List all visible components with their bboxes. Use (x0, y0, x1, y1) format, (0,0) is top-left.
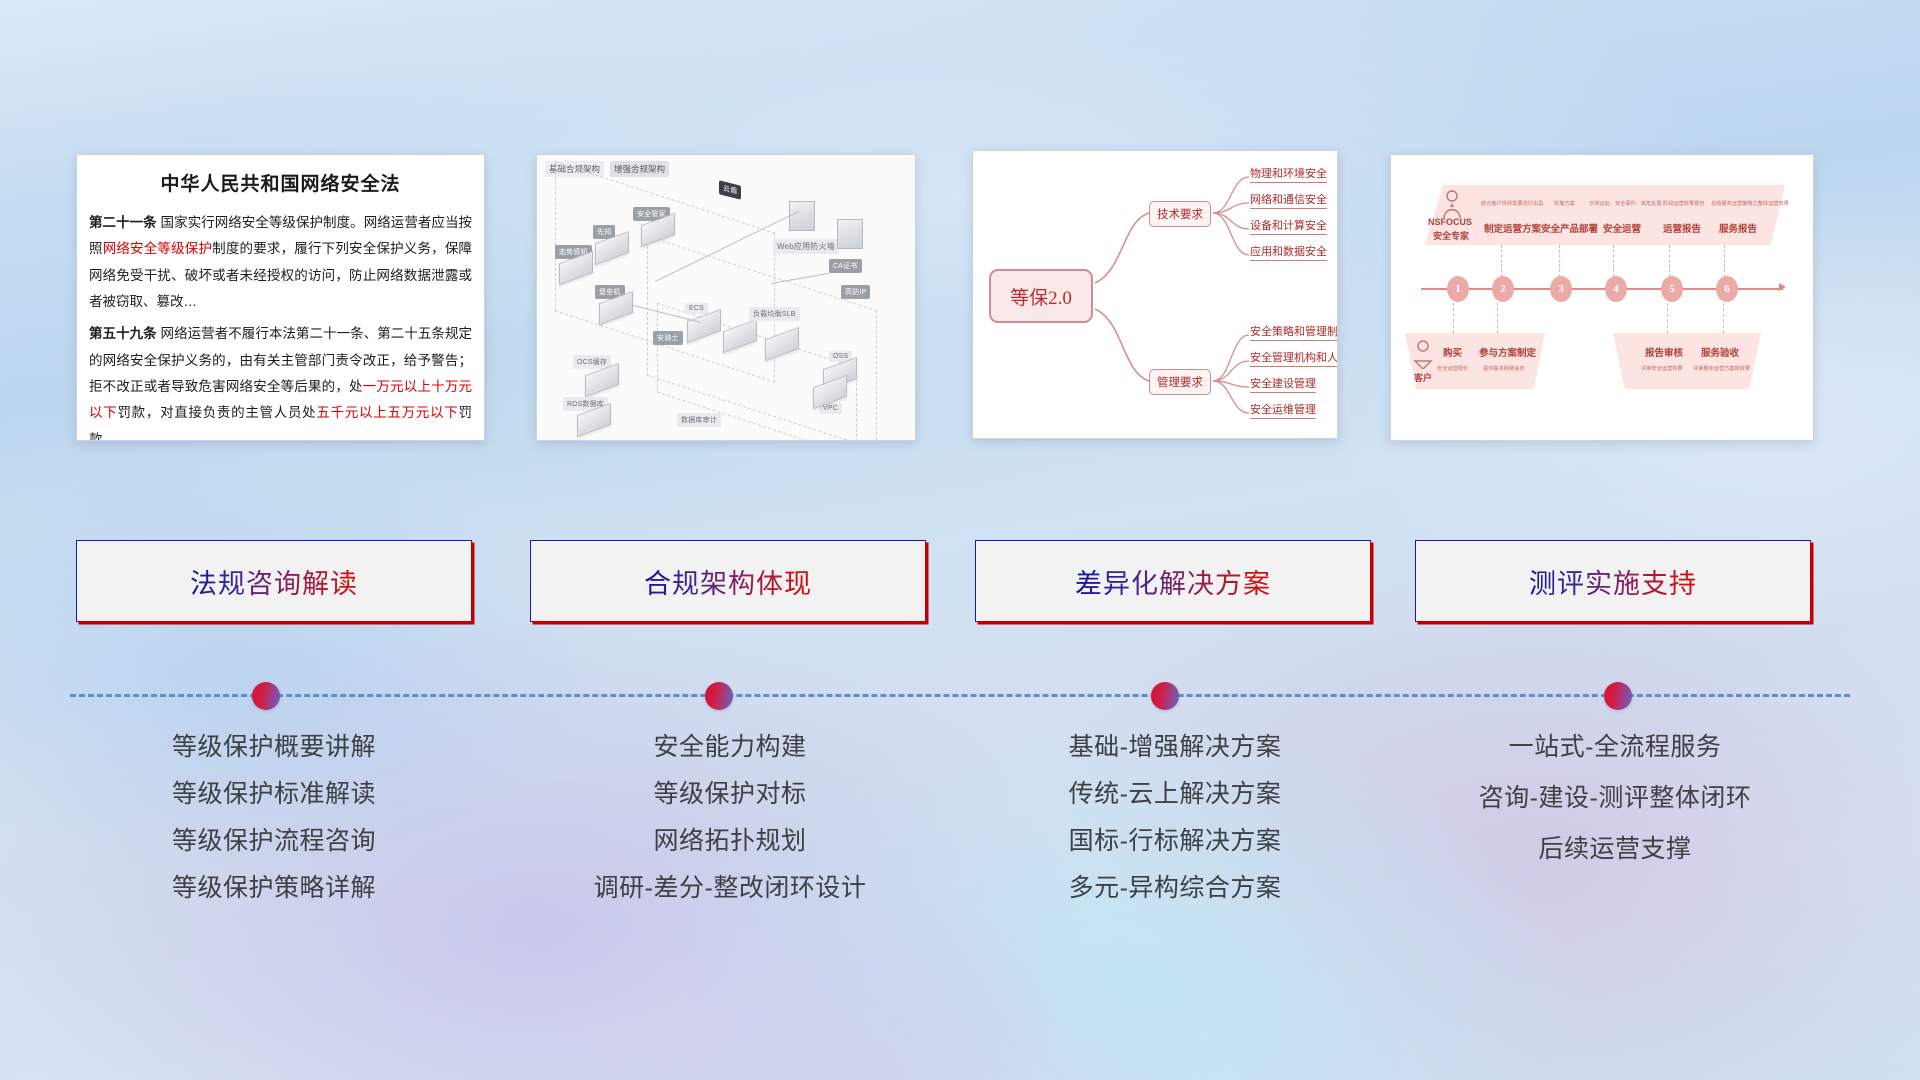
banner-row: 法规咨询解读 合规架构体现 差异化解决方案 测评实施支持 (0, 540, 1920, 650)
detail-column-regulation: 等级保护概要讲解 等级保护标准解读 等级保护流程咨询 等级保护策略详解 (64, 735, 484, 923)
mindmap-leaf-policy-system: 安全策略和管理制度 (1250, 323, 1338, 341)
timeline-link-top-4 (1613, 245, 1614, 277)
list-item: 传统-云上解决方案 (965, 782, 1385, 807)
law-body: 第二十一条 国家实行网络安全等级保护制度。网络运营者应当按照网络安全等级保护制度… (77, 210, 484, 441)
law-text-highlight: 五千元以上五万元以下 (316, 405, 458, 420)
thumbnail-row: 中华人民共和国网络安全法 第二十一条 国家实行网络安全等级保护制度。网络运营者应… (0, 0, 1920, 450)
thumbnail-service-timeline[interactable]: NSFOCUS 安全专家 结合客户现状需要进行出具 制定运营方案 实施方案 安全… (1390, 154, 1814, 441)
banner-label: 测评实施支持 (1529, 562, 1697, 601)
mindmap-leaf-org-personnel: 安全管理机构和人员 (1250, 349, 1338, 367)
top-step-1-subtitle: 结合客户现状需要进行出具 (1481, 200, 1543, 207)
timeline-marker-2[interactable] (705, 682, 733, 710)
node-chip-anqishi: 安骑士 (653, 331, 683, 345)
node-cube-waf (789, 201, 815, 231)
timeline-link-top-3 (1559, 245, 1560, 277)
detail-column-architecture: 安全能力构建 等级保护对标 网络拓扑规划 调研-差分-整改闭环设计 (520, 735, 940, 923)
timeline-marker-1[interactable] (252, 682, 280, 710)
node-chip-ca-cert: CA证书 (829, 259, 862, 273)
node-cube-ca (837, 219, 863, 249)
timeline-node-5[interactable]: 5 (1661, 276, 1683, 302)
node-chip-slb: 负载均衡SLB (749, 307, 800, 321)
mindmap-leaf-ops-mgmt: 安全运维管理 (1250, 401, 1316, 419)
list-item: 等级保护流程咨询 (64, 829, 484, 854)
list-item: 后续运营支撑 (1405, 837, 1825, 862)
timeline-link-bot-4 (1723, 303, 1724, 333)
timeline-node-4[interactable]: 4 (1605, 276, 1627, 302)
timeline-marker-4[interactable] (1604, 682, 1632, 710)
list-item: 安全能力构建 (520, 735, 940, 760)
timeline-vendor-banner (1425, 185, 1785, 245)
mindmap-root: 等保2.0 (989, 269, 1093, 323)
list-item: 多元-异构综合方案 (965, 876, 1385, 901)
node-chip-web-waf: Web应用防火墙 (773, 239, 839, 254)
law-paragraph-21: 第二十一条 国家实行网络安全等级保护制度。网络运营者应当按照网络安全等级保护制度… (89, 210, 472, 315)
list-item: 网络拓扑规划 (520, 829, 940, 854)
timeline-link-top-2 (1501, 245, 1502, 277)
timeline-customer-banner-right (1613, 333, 1761, 389)
banner-regulation-consulting[interactable]: 法规咨询解读 (76, 540, 472, 622)
bottom-step-4-title: 服务验收 (1701, 345, 1739, 359)
mindmap-branch-management: 管理要求 (1149, 369, 1211, 395)
timeline-node-1[interactable]: 1 (1447, 276, 1469, 302)
bottom-step-4-subtitle: 评审整体运营方案和效果 (1693, 365, 1750, 372)
top-step-5-subtitle: 总结服务运营策略之整体运营效果 (1711, 200, 1789, 207)
timeline-node-3[interactable]: 3 (1550, 276, 1572, 302)
list-item: 等级保护概要讲解 (64, 735, 484, 760)
service-timeline: NSFOCUS 安全专家 结合客户现状需要进行出具 制定运营方案 实施方案 安全… (1391, 155, 1813, 440)
bottom-step-1-subtitle: 安全运营报价 (1437, 365, 1468, 372)
bottom-step-3-title: 报告审核 (1645, 345, 1683, 359)
top-step-4-title: 运营报告 (1663, 221, 1701, 235)
timeline-marker-3[interactable] (1151, 682, 1179, 710)
architecture-diagram: 基础合规架构 增强合规架构 云盾 安全管家 先知 态势感知 堡垒机 ECS 安骑… (537, 155, 915, 440)
top-step-1-title: 制定运营方案 (1484, 221, 1541, 235)
timeline-strip (0, 660, 1920, 720)
top-step-3-subtitle: 日常运处、安全事件、高危处置 (1589, 200, 1662, 207)
node-chip-ecs: ECS (685, 303, 708, 314)
mindmap-leaf-app-data: 应用和数据安全 (1250, 243, 1327, 261)
list-item: 一站式-全流程服务 (1405, 735, 1825, 760)
tab-enhanced-compliance[interactable]: 增强合规架构 (610, 161, 669, 177)
list-item: 调研-差分-整改闭环设计 (520, 876, 940, 901)
vendor-role-line2: 安全专家 (1433, 229, 1469, 242)
thumbnail-compliance-architecture[interactable]: 基础合规架构 增强合规架构 云盾 安全管家 先知 态势感知 堡垒机 ECS 安骑… (536, 154, 916, 441)
banner-assessment-support[interactable]: 测评实施支持 (1415, 540, 1811, 622)
timeline-axis-arrow (1779, 283, 1786, 291)
law-text-highlight: 网络安全等级保护 (103, 241, 212, 256)
law-title: 中华人民共和国网络安全法 (77, 169, 484, 196)
node-chip-db-audit: 数据库审计 (677, 413, 721, 427)
list-item: 国标-行标解决方案 (965, 829, 1385, 854)
mindmap-leaf-construction-mgmt: 安全建设管理 (1250, 375, 1316, 393)
list-item: 基础-增强解决方案 (965, 735, 1385, 760)
node-chip-anti-ddos-ip: 高防IP (841, 285, 870, 299)
detail-columns: 等级保护概要讲解 等级保护标准解读 等级保护流程咨询 等级保护策略详解 安全能力… (0, 735, 1920, 985)
banner-differentiated-solution[interactable]: 差异化解决方案 (975, 540, 1371, 622)
timeline-dashed-line (70, 694, 1850, 697)
thumbnail-mindmap-dengbao[interactable]: 等保2.0 技术要求 管理要求 物理和环境安全 网络和通信安全 设备和计算安全 … (972, 150, 1338, 439)
top-step-5-title: 服务报告 (1719, 221, 1757, 235)
mindmap-leaf-physical-env: 物理和环境安全 (1250, 165, 1327, 183)
timeline-link-bot-2 (1497, 303, 1498, 333)
top-step-3-title: 安全运营 (1603, 221, 1641, 235)
mindmap-leaf-device-compute: 设备和计算安全 (1250, 217, 1327, 235)
vendor-expert-icon (1439, 189, 1465, 219)
list-item: 咨询-建设-测评整体闭环 (1405, 786, 1825, 811)
top-step-4-subtitle: 阶段运营效果报告 (1663, 200, 1705, 207)
bottom-step-2-subtitle: 提供基本网络信息 (1483, 365, 1525, 372)
banner-compliance-architecture[interactable]: 合规架构体现 (530, 540, 926, 622)
mindmap-branch-technical: 技术要求 (1149, 201, 1211, 227)
list-item: 等级保护标准解读 (64, 782, 484, 807)
top-step-2-title: 安全产品部署 (1541, 221, 1598, 235)
timeline-node-6[interactable]: 6 (1716, 276, 1738, 302)
detail-column-solution: 基础-增强解决方案 传统-云上解决方案 国标-行标解决方案 多元-异构综合方案 (965, 735, 1385, 923)
mindmap-leaf-network-comm: 网络和通信安全 (1250, 191, 1327, 209)
banner-label: 差异化解决方案 (1075, 562, 1271, 601)
detail-column-assessment: 一站式-全流程服务 咨询-建设-测评整体闭环 后续运营支撑 (1405, 735, 1825, 888)
law-text: 罚款，对直接负责的主管人员处 (117, 405, 316, 420)
law-article-label-21: 第二十一条 (89, 215, 157, 230)
banner-label: 法规咨询解读 (190, 562, 358, 601)
list-item: 等级保护对标 (520, 782, 940, 807)
law-article-label-59: 第五十九条 (89, 326, 157, 341)
customer-icon (1411, 339, 1435, 369)
timeline-link-top-6 (1724, 245, 1725, 277)
timeline-link-bot-3 (1667, 303, 1668, 333)
customer-role-label: 客户 (1414, 371, 1432, 384)
banner-label: 合规架构体现 (644, 562, 812, 601)
thumbnail-cybersecurity-law[interactable]: 中华人民共和国网络安全法 第二十一条 国家实行网络安全等级保护制度。网络运营者应… (76, 154, 485, 441)
node-chip-cloudshield: 云盾 (719, 180, 741, 200)
timeline-link-bot-1 (1453, 303, 1454, 333)
list-item: 等级保护策略详解 (64, 876, 484, 901)
timeline-link-top-5 (1669, 245, 1670, 277)
top-step-2-subtitle: 实施方案 (1554, 200, 1575, 207)
bottom-step-3-subtitle: 评审安全运营效果 (1641, 365, 1683, 372)
timeline-node-2[interactable]: 2 (1492, 276, 1514, 302)
bottom-step-1-title: 购买 (1443, 345, 1462, 359)
bottom-step-2-title: 参与方案制定 (1479, 345, 1536, 359)
mindmap: 等保2.0 技术要求 管理要求 物理和环境安全 网络和通信安全 设备和计算安全 … (973, 151, 1337, 438)
vendor-role-line1: NSFOCUS (1428, 217, 1472, 227)
law-paragraph-59: 第五十九条 网络运营者不履行本法第二十一条、第二十五条规定的网络安全保护义务的，… (89, 321, 472, 441)
